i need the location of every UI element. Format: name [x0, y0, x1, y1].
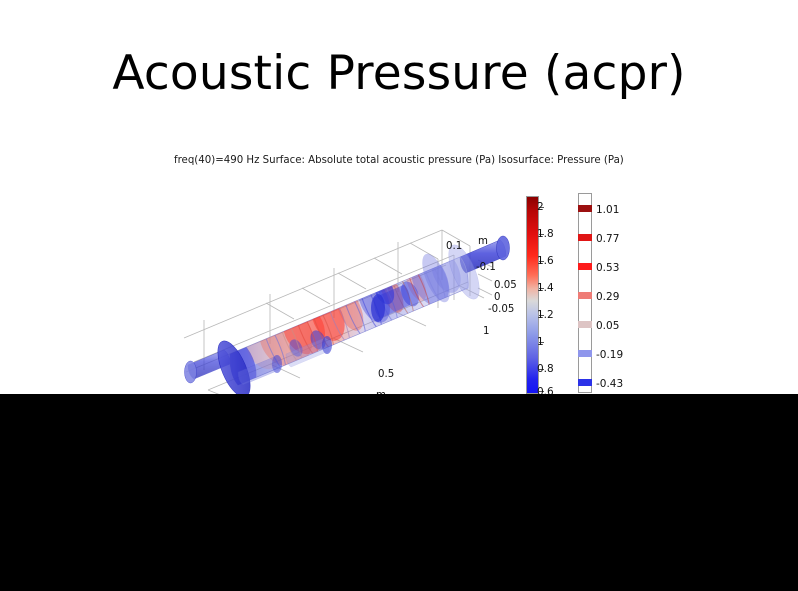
isosurface-label-1p01: 1.01 — [596, 204, 619, 216]
slide-bottom-black-band — [0, 394, 798, 591]
axis-tick-labels: m 0.1 -0.1 0.05 0 -0.05 1 0.5 m — [376, 236, 517, 401]
isosurface-band — [578, 234, 592, 241]
isosurface-band — [578, 321, 592, 328]
colorbar-label-2: 2 — [537, 201, 544, 213]
page-title: Acoustic Pressure (acpr) — [0, 44, 798, 104]
acoustic-pressure-3d-plot[interactable]: m 0.1 -0.1 0.05 0 -0.05 1 0.5 m — [178, 222, 518, 402]
axis-label-x-right: 1 — [483, 326, 489, 337]
isosurface-band — [578, 263, 592, 270]
isosurface-label-0p05: 0.05 — [596, 320, 619, 332]
colorbar-label-1p4: 1.4 — [537, 282, 554, 294]
muffler-chamber — [211, 241, 485, 401]
colorbar-label-1: 1 — [537, 336, 544, 348]
axis-label-z-lower: -0.1 — [476, 262, 496, 273]
figure-subtitle: freq(40)=490 Hz Surface: Absolute total … — [174, 155, 624, 166]
isosurface-label-0p53: 0.53 — [596, 262, 619, 274]
axis-unit-top-m: m — [478, 236, 488, 247]
isosurface-label-m0p19: -0.19 — [596, 349, 623, 361]
axis-label-y-mid: 0 — [494, 292, 500, 303]
colorbar-label-0p8: 0.8 — [537, 363, 554, 375]
isosurface-label-m0p43: -0.43 — [596, 378, 623, 390]
isosurface-label-0p29: 0.29 — [596, 291, 619, 303]
isosurface-label-0p77: 0.77 — [596, 233, 619, 245]
axis-label-y-upper: 0.05 — [494, 280, 517, 291]
colorbar-label-1p6: 1.6 — [537, 255, 554, 267]
isosurface-band — [578, 379, 592, 386]
colorbar-label-1p8: 1.8 — [537, 228, 554, 240]
isosurface-band — [578, 350, 592, 357]
axis-label-y-lower: -0.05 — [488, 304, 514, 315]
isosurface-band — [578, 292, 592, 299]
axis-label-x-mid: 0.5 — [378, 369, 394, 380]
colorbar-label-1p2: 1.2 — [537, 309, 554, 321]
axis-label-z-upper: 0.1 — [446, 241, 462, 252]
isosurface-band — [578, 205, 592, 212]
slide-canvas: Acoustic Pressure (acpr) freq(40)=490 Hz… — [0, 0, 798, 394]
